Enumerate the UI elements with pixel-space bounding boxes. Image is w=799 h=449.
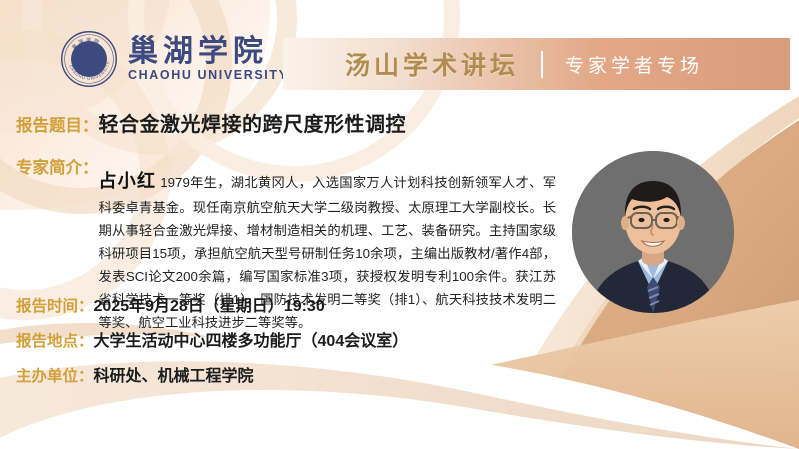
report-title-label: 报告题目：	[16, 112, 99, 136]
poster-canvas: 1977 巢 湖 学 院 CHAOHU UNIVERSITY 巢湖学院 CHAO…	[0, 0, 799, 449]
report-place-value: 大学生活动中心四楼多功能厅（404会议室）	[94, 327, 409, 351]
report-host-value: 科研处、机械工程学院	[94, 362, 254, 386]
report-title-value: 轻合金激光焊接的跨尺度形性调控	[99, 108, 407, 137]
report-host-row: 主办单位： 科研处、机械工程学院	[16, 362, 254, 386]
university-name-en: CHAOHU UNIVERSITY	[128, 68, 289, 82]
report-host-label: 主办单位：	[16, 364, 94, 386]
speaker-bio-row: 专家简介： 占小红 1979年生，湖北黄冈人，入选国家万人计划科技创新领军人才、…	[16, 153, 556, 348]
banner-divider	[541, 51, 543, 78]
speaker-portrait-image	[572, 151, 734, 313]
svg-text:1977: 1977	[85, 64, 93, 69]
forum-subtitle: 专家学者专场	[565, 51, 703, 78]
report-title-row: 报告题目： 轻合金激光焊接的跨尺度形性调控	[16, 108, 406, 137]
report-time-value: 2025年9月28日（星期日）19:30	[94, 292, 325, 316]
speaker-bio-label: 专家简介：	[16, 153, 99, 178]
university-name-cn: 巢湖学院	[128, 36, 289, 68]
report-time-label: 报告时间：	[16, 294, 94, 316]
speaker-portrait	[572, 151, 734, 313]
university-seal-icon: 1977 巢 湖 学 院 CHAOHU UNIVERSITY	[60, 30, 118, 88]
forum-title: 汤山学术讲坛	[345, 46, 519, 82]
forum-banner: 汤山学术讲坛 专家学者专场	[283, 38, 790, 90]
report-place-row: 报告地点： 大学生活动中心四楼多功能厅（404会议室）	[16, 327, 408, 351]
report-time-row: 报告时间： 2025年9月28日（星期日）19:30	[16, 292, 325, 316]
university-logo: 1977 巢 湖 学 院 CHAOHU UNIVERSITY 巢湖学院 CHAO…	[60, 30, 289, 88]
report-place-label: 报告地点：	[16, 329, 94, 351]
speaker-name: 占小红	[99, 171, 157, 191]
speaker-bio-body: 占小红 1979年生，湖北黄冈人，入选国家万人计划科技创新领军人才、军科委卓青基…	[99, 153, 557, 348]
